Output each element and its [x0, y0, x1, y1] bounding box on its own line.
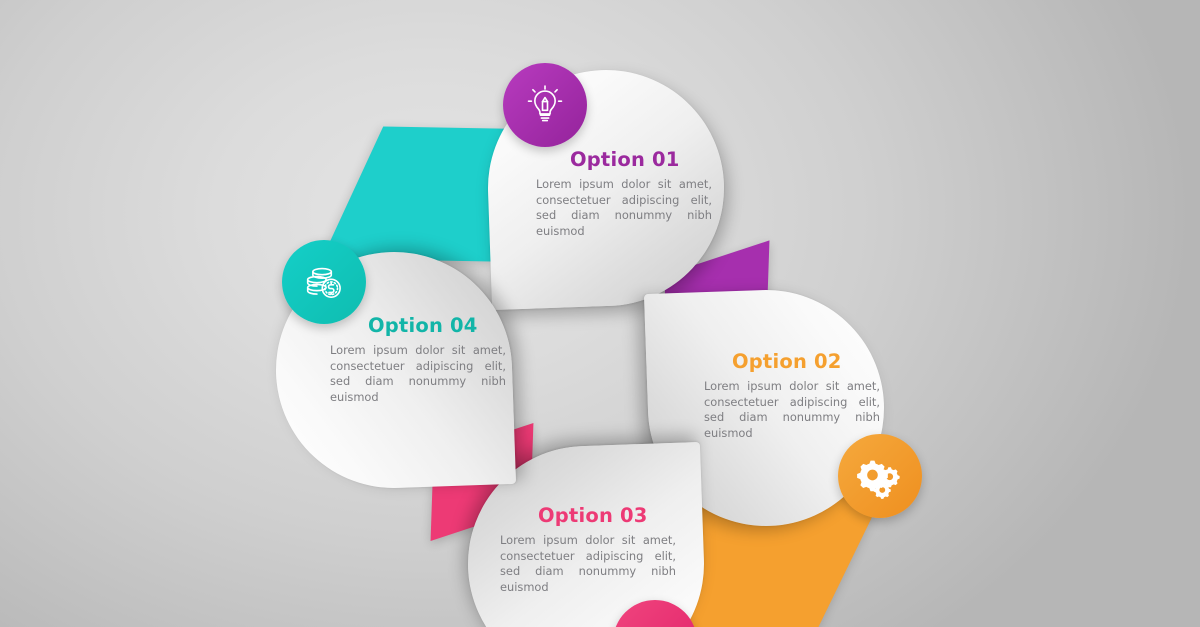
badge-option-01[interactable]: [503, 63, 587, 147]
infographic-canvas: Option 01 Lorem ipsum dolor sit amet, co…: [0, 0, 1200, 627]
badge-option-02[interactable]: [838, 434, 922, 518]
briefcase-icon: [632, 619, 678, 627]
badge-option-04[interactable]: [282, 240, 366, 324]
coins-dollar-icon: [301, 259, 347, 305]
gears-icon: [857, 453, 903, 499]
lightbulb-pencil-icon: [522, 82, 568, 128]
